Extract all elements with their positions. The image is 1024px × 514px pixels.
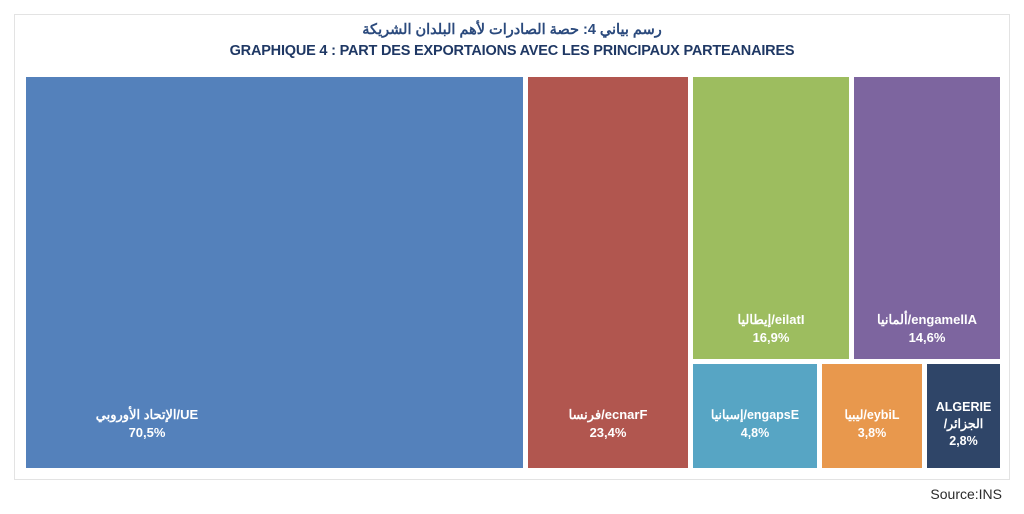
treemap-tile-italie[interactable]: Italie/إيطاليا 16,9% bbox=[693, 77, 849, 359]
tile-name-italie: Italie/إيطاليا bbox=[697, 311, 845, 329]
tile-label-allemagne: Allemagne/ألمانيا 14,6% bbox=[854, 311, 1000, 347]
chart-title-french: GRAPHIQUE 4 : PART DES EXPORTAIONS AVEC … bbox=[14, 40, 1010, 62]
tile-name-algerie-ar: الجزائر/ bbox=[931, 416, 996, 433]
tile-value-libye: 3,8% bbox=[826, 424, 918, 442]
treemap-tile-espagne[interactable]: Espagne/إسبانيا 4,8% bbox=[693, 364, 817, 468]
source-note: Source:INS bbox=[930, 486, 1002, 502]
treemap-tile-libye[interactable]: Libye/ليبيا 3,8% bbox=[822, 364, 922, 468]
tile-value-algerie: 2,8% bbox=[931, 433, 996, 450]
tile-name-eu: EU/الإتحاد الأوروبي bbox=[36, 406, 258, 424]
tile-value-espagne: 4,8% bbox=[697, 424, 813, 442]
treemap-tile-eu[interactable]: EU/الإتحاد الأوروبي 70,5% bbox=[26, 77, 523, 468]
tile-value-france: 23,4% bbox=[532, 424, 684, 442]
tile-name-espagne: Espagne/إسبانيا bbox=[697, 406, 813, 424]
chart-page: رسم بياني 4: حصة الصادرات لأهم البلدان ا… bbox=[0, 0, 1024, 514]
tile-label-algerie: ALGERIE الجزائر/ 2,8% bbox=[927, 399, 1000, 450]
tile-label-libye: Libye/ليبيا 3,8% bbox=[822, 406, 922, 442]
tile-name-france: France/فرنسا bbox=[532, 406, 684, 424]
tile-label-italie: Italie/إيطاليا 16,9% bbox=[693, 311, 849, 347]
tile-value-eu: 70,5% bbox=[36, 424, 258, 442]
treemap-tile-algerie[interactable]: ALGERIE الجزائر/ 2,8% bbox=[927, 364, 1000, 468]
tile-label-espagne: Espagne/إسبانيا 4,8% bbox=[693, 406, 817, 442]
chart-title-arabic: رسم بياني 4: حصة الصادرات لأهم البلدان ا… bbox=[14, 20, 1010, 40]
tile-label-eu: EU/الإتحاد الأوروبي 70,5% bbox=[32, 406, 262, 442]
treemap-tile-allemagne[interactable]: Allemagne/ألمانيا 14,6% bbox=[854, 77, 1000, 359]
tile-value-allemagne: 14,6% bbox=[858, 329, 996, 347]
tile-value-italie: 16,9% bbox=[697, 329, 845, 347]
tile-name-algerie-fr: ALGERIE bbox=[931, 399, 996, 416]
tile-label-france: France/فرنسا 23,4% bbox=[528, 406, 688, 442]
tile-name-allemagne: Allemagne/ألمانيا bbox=[858, 311, 996, 329]
chart-titles: رسم بياني 4: حصة الصادرات لأهم البلدان ا… bbox=[14, 20, 1010, 62]
treemap-plot: EU/الإتحاد الأوروبي 70,5% France/فرنسا 2… bbox=[26, 77, 1000, 468]
treemap-tile-france[interactable]: France/فرنسا 23,4% bbox=[528, 77, 688, 468]
tile-name-libye: Libye/ليبيا bbox=[826, 406, 918, 424]
